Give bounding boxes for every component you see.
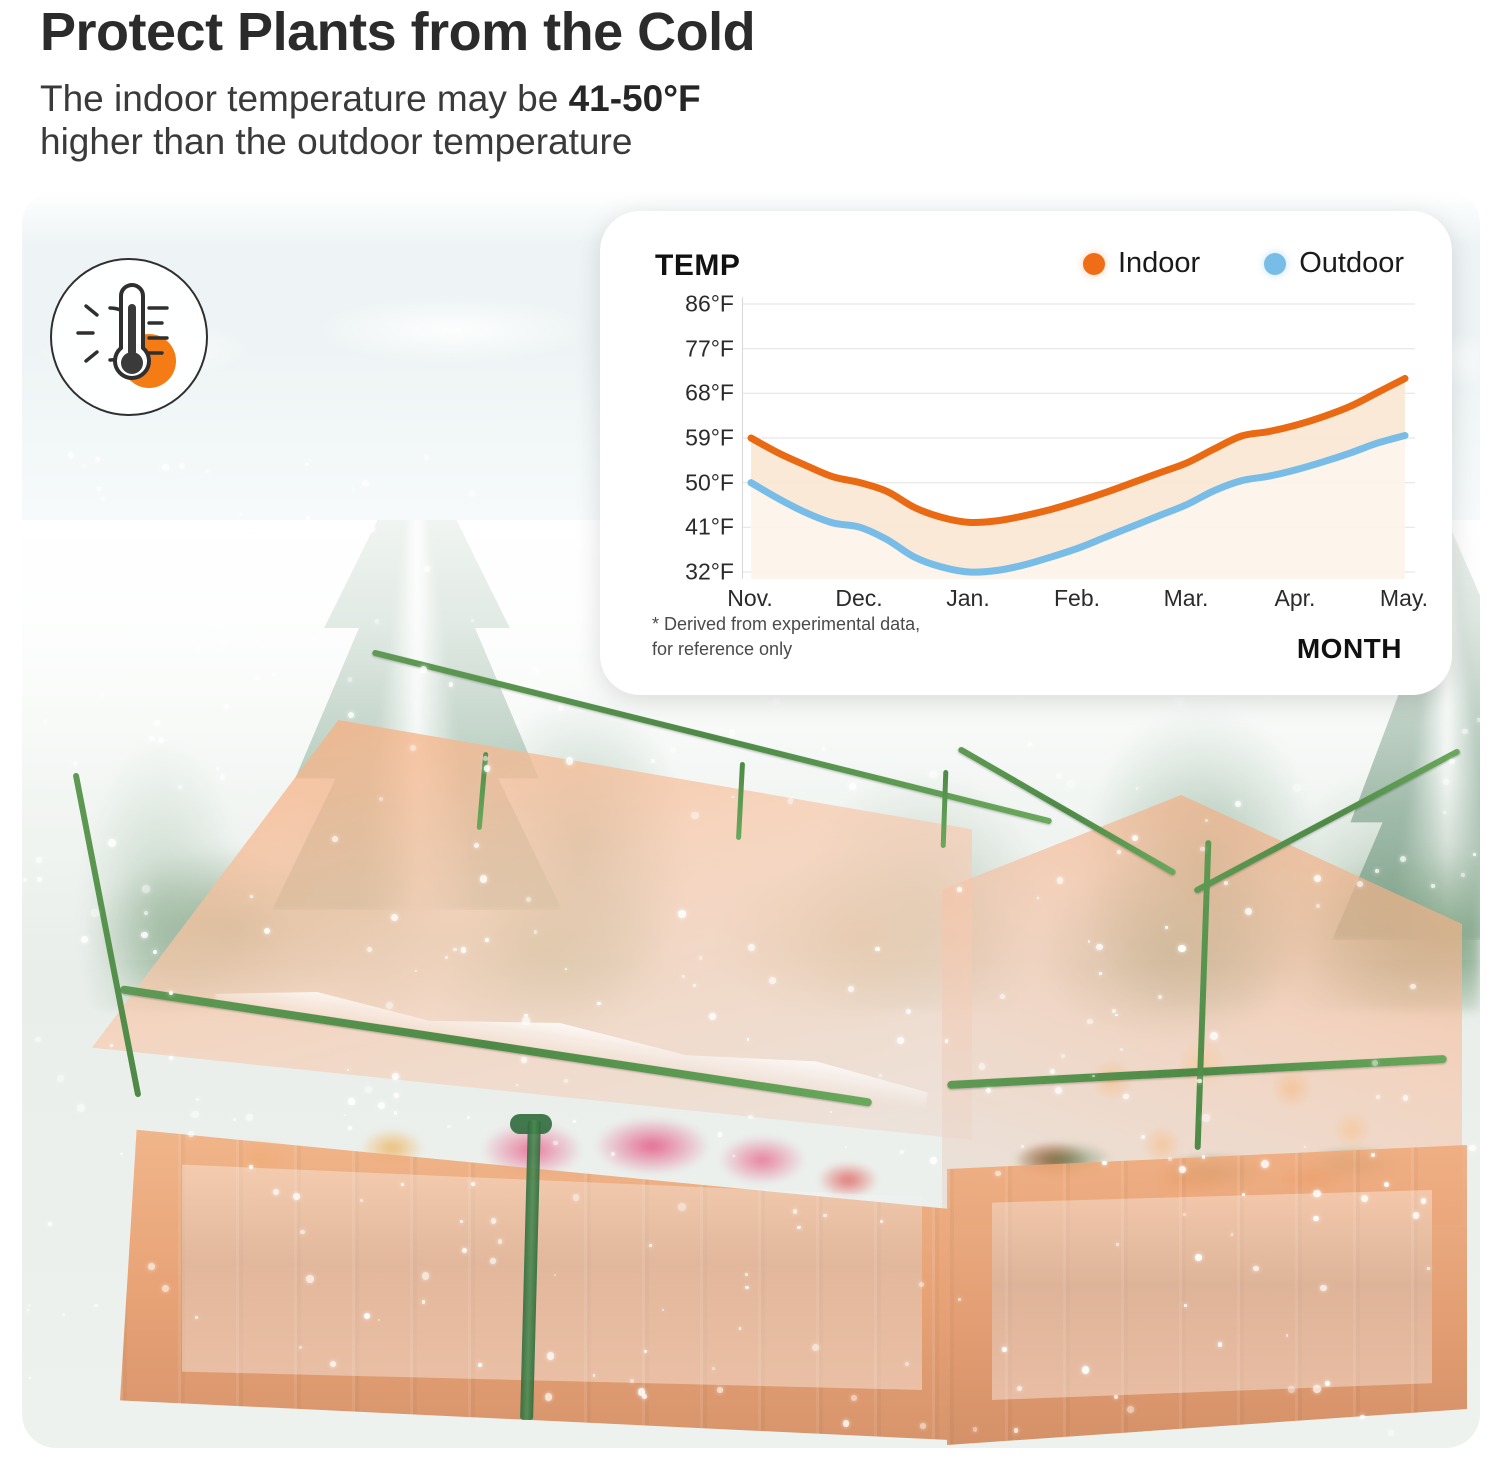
temperature-badge [50,258,208,416]
plastic-sheet-right [992,1190,1432,1400]
x-tick-label: May. [1380,585,1428,612]
page-subtitle: The indoor temperature may be 41-50°F hi… [40,77,1240,164]
subtitle-text-part1: The indoor temperature may be [40,78,569,119]
footnote-line-1: * Derived from experimental data, [652,612,920,636]
legend-label-indoor: Indoor [1118,247,1200,280]
y-tick-label: 32°F [685,559,734,586]
greenhouse-cover [62,690,1452,1448]
y-tick-label: 50°F [685,469,734,496]
legend-label-outdoor: Outdoor [1299,247,1404,280]
y-axis-tick-labels: 86°F77°F68°F59°F50°F41°F32°F [642,297,734,579]
plastic-sheet-left [182,1160,922,1390]
line-chart [742,297,1414,579]
x-tick-label: Jan. [946,585,989,612]
y-tick-label: 41°F [685,514,734,541]
y-tick-label: 86°F [685,291,734,318]
subtitle-temperature-range: 41-50°F [569,78,701,119]
footnote-line-2: for reference only [652,637,920,661]
x-axis-title: MONTH [1297,633,1402,665]
legend-dot-indoor-icon [1083,253,1105,275]
subtitle-text-part2: higher than the outdoor temperature [40,121,632,162]
legend-item-indoor[interactable]: Indoor [1083,247,1200,280]
y-tick-label: 59°F [685,425,734,452]
page-title: Protect Plants from the Cold [40,4,1240,61]
x-tick-label: Feb. [1054,585,1100,612]
chart-footnote: * Derived from experimental data, for re… [652,612,920,661]
y-axis-title: TEMP [655,249,740,283]
x-tick-label: Apr. [1275,585,1316,612]
x-tick-label: Mar. [1164,585,1209,612]
plot-area: 86°F77°F68°F59°F50°F41°F32°F Nov.Dec.Jan… [642,297,1414,607]
x-tick-label: Nov. [727,585,773,612]
y-tick-label: 68°F [685,380,734,407]
temperature-chart-card: TEMP Indoor Outdoor 86°F77°F68°F59°F50°F… [600,211,1452,695]
x-tick-label: Dec. [835,585,882,612]
chart-legend: Indoor Outdoor [1083,247,1404,280]
y-tick-label: 77°F [685,335,734,362]
chart-svg [743,297,1415,579]
legend-dot-outdoor-icon [1264,253,1286,275]
legend-item-outdoor[interactable]: Outdoor [1264,247,1404,280]
header: Protect Plants from the Cold The indoor … [40,4,1240,164]
sun-thermometer-icon [52,260,210,418]
